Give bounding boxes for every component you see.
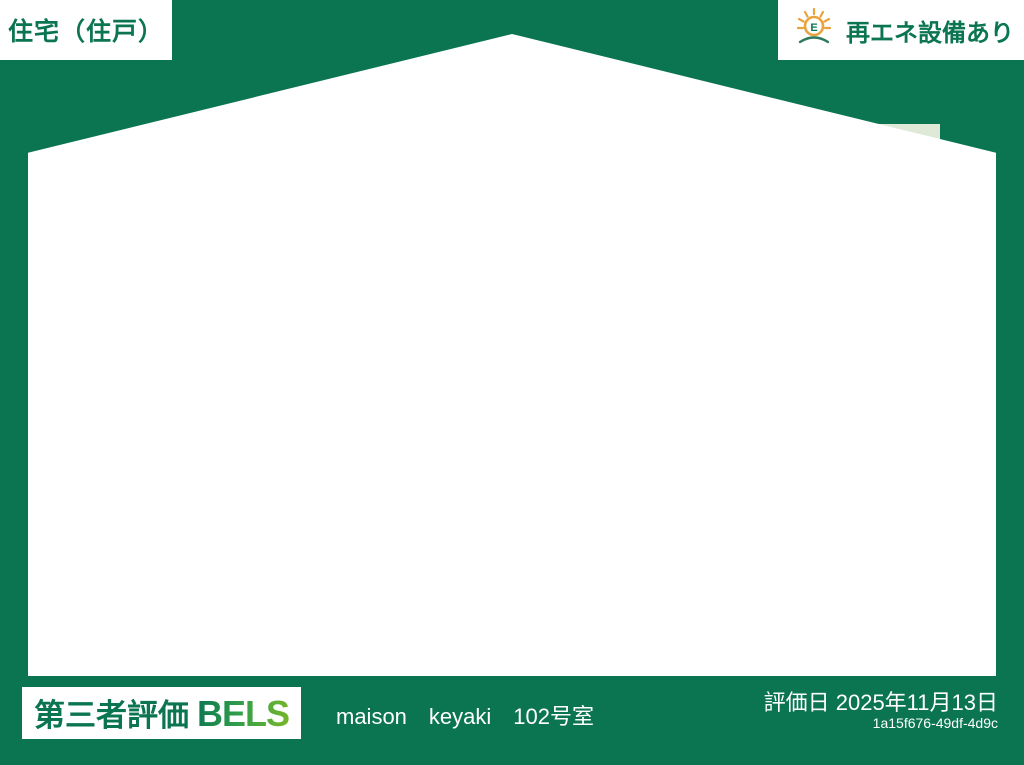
energy-performance-label: 住宅（住戸） E 再エネ設備あり 建築物省エネ法に基づく: [0, 0, 1024, 765]
evaluation-date: 評価日 2025年11月13日: [764, 685, 998, 717]
dwelling-type-badge: 住宅（住戸）: [0, 0, 172, 60]
building-name: maison keyaki 102号室: [336, 699, 594, 731]
renewable-equipment-label: 再エネ設備あり: [846, 13, 1014, 48]
solar-sun-icon: E: [794, 7, 838, 54]
bels-badge-en: BELS: [197, 693, 289, 735]
bels-badge-jp: 第三者評価: [34, 690, 189, 735]
svg-text:E: E: [810, 22, 817, 34]
dwelling-type-label: 住宅（住戸）: [8, 12, 164, 48]
renewable-equipment-badge: E 再エネ設備あり: [778, 0, 1024, 60]
bels-badge: 第三者評価 BELS: [22, 687, 301, 739]
footer-bar: 第三者評価 BELS maison keyaki 102号室 評価日 2025年…: [0, 677, 1024, 765]
evaluation-id: 1a15f676-49df-4d9c: [873, 715, 998, 731]
label-panel: [28, 34, 996, 676]
